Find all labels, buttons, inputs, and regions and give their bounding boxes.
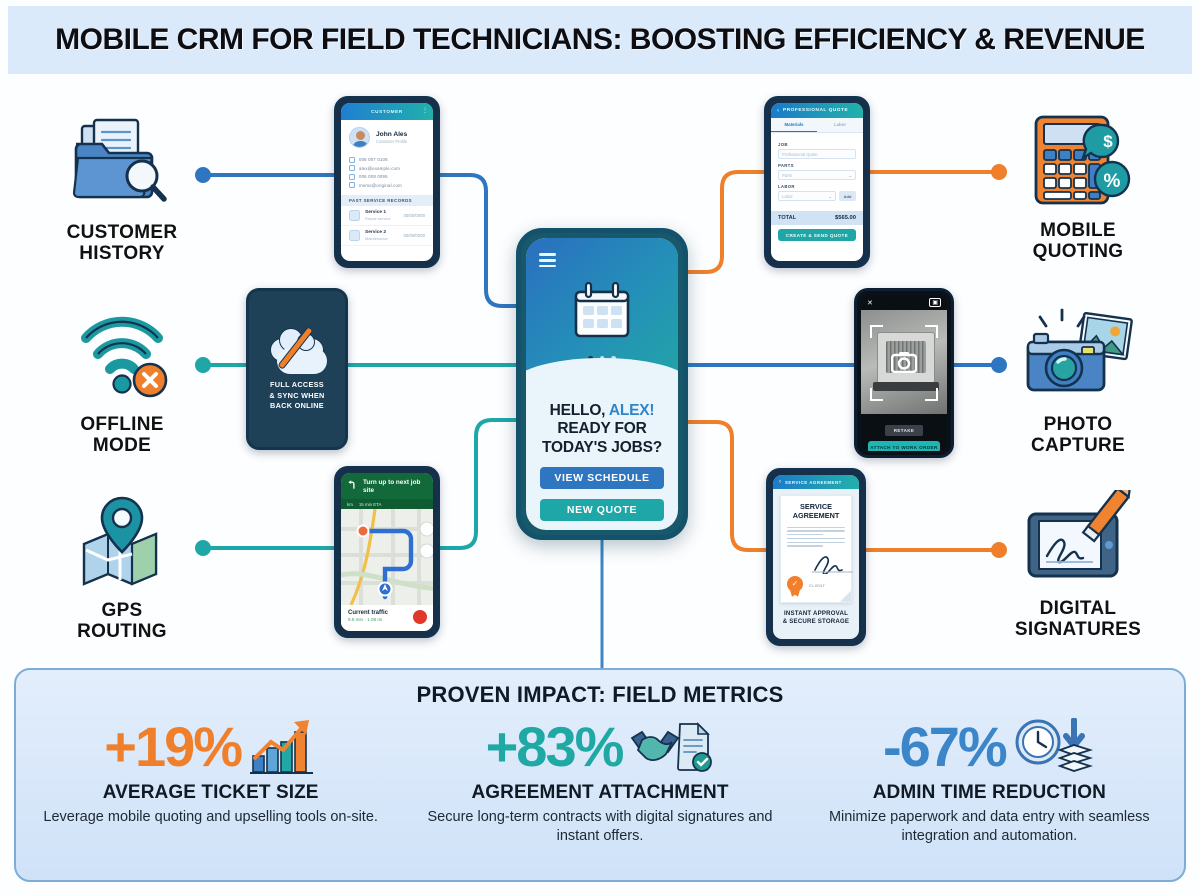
customer-profile: John Ales Customer Profile <box>341 120 433 152</box>
doc-title: SERVICE AGREEMENT <box>787 503 845 521</box>
approval-seal-icon: ✓ <box>787 576 803 592</box>
navigation-footer: Current traffic 9.5 min · 1.08 mi <box>341 605 433 627</box>
list-item: memo@original.com <box>349 182 425 188</box>
recenter-icon[interactable] <box>413 610 427 624</box>
add-line-button[interactable]: Add <box>839 191 856 201</box>
tab-materials[interactable]: Materials <box>771 118 817 132</box>
appbar-title: SERVICE AGREEMENT <box>785 480 842 485</box>
labor-select[interactable]: Labor ⌄ <box>778 191 836 201</box>
cloud-offline-icon <box>266 326 328 370</box>
phone-professional-quote[interactable]: ‹ PROFESSIONAL QUOTE Materials Labor JOB… <box>764 96 870 268</box>
camera-topbar: ✕ ▣ <box>861 295 947 310</box>
infographic-canvas: MOBILE CRM FOR FIELD TECHNICIANS: BOOSTI… <box>0 0 1200 896</box>
metrics-title: PROVEN IMPACT: FIELD METRICS <box>16 682 1184 708</box>
parts-select[interactable]: Parts ⌄ <box>778 170 856 180</box>
metric-label: AGREEMENT ATTACHMENT <box>415 782 784 804</box>
view-schedule-button[interactable]: VIEW SCHEDULE <box>540 467 664 489</box>
total-label: TOTAL <box>778 215 796 221</box>
feature-label: OFFLINE MODE <box>22 414 222 457</box>
camera-icon <box>891 351 917 373</box>
job-input[interactable]: Professional Quote <box>778 149 856 159</box>
hamburger-menu-icon[interactable] <box>539 250 556 271</box>
feature-label: GPS ROUTING <box>22 600 222 643</box>
greeting-heading: HELLO, ALEX! READY FOR TODAY'S JOBS? <box>540 402 664 457</box>
feature-label: CUSTOMER HISTORY <box>22 222 222 265</box>
phone-gps-navigation[interactable]: Turn up to next job site km 15 min ETA <box>334 466 440 638</box>
metric-value: +19% <box>104 719 241 775</box>
field-label-labor: LABOR <box>778 184 856 189</box>
metric-value: -67% <box>883 719 1006 775</box>
calendar-icon <box>569 282 635 342</box>
table-row[interactable]: Service 1 Repair service 00/00/0000 <box>341 206 433 226</box>
section-header: PAST SERVICE RECORDS <box>341 195 433 206</box>
quote-tabs[interactable]: Materials Labor <box>771 118 863 133</box>
metrics-panel: PROVEN IMPACT: FIELD METRICS +19% <box>14 668 1186 882</box>
hero-header <box>526 238 678 386</box>
list-item: 008 007 0108 <box>349 157 425 163</box>
agreement-footer: INSTANT APPROVAL & SECURE STORAGE <box>773 610 859 627</box>
attach-to-work-order-button[interactable]: ATTACH TO WORK ORDER <box>868 441 940 451</box>
map-canvas[interactable] <box>341 509 433 605</box>
retake-button[interactable]: RETAKE <box>885 425 924 436</box>
mail-icon <box>349 165 355 171</box>
chevron-left-icon[interactable]: ‹ <box>777 108 779 114</box>
create-send-quote-button[interactable]: CREATE & SEND QUOTE <box>778 229 856 241</box>
feature-digital-signatures[interactable]: DIGITAL SIGNATURES <box>978 484 1178 641</box>
direction-text: Turn up to next job site <box>363 479 427 495</box>
carousel-dots[interactable] <box>588 356 616 361</box>
page-fold <box>840 591 851 602</box>
camera-viewfinder[interactable] <box>861 310 947 414</box>
phone-customer-history[interactable]: CUSTOMER ⋮ John Ales Customer Profile 00… <box>334 96 440 268</box>
feature-gps-routing[interactable]: GPS ROUTING <box>22 486 222 643</box>
folder-search-icon <box>22 108 222 216</box>
metric-label: AVERAGE TICKET SIZE <box>26 782 395 804</box>
avatar <box>349 127 370 148</box>
metric-average-ticket-size: +19% <box>16 714 405 846</box>
metric-desc: Leverage mobile quoting and upselling to… <box>26 808 395 827</box>
feature-label: DIGITAL SIGNATURES <box>978 598 1178 641</box>
card-offline-sync[interactable]: FULL ACCESS & SYNC WHEN BACK ONLINE <box>246 288 348 450</box>
feature-label: PHOTO CAPTURE <box>978 414 1178 457</box>
clock-paper-down-icon <box>1012 718 1096 776</box>
customer-appbar: CUSTOMER ⋮ <box>341 103 433 120</box>
close-icon[interactable]: ✕ <box>867 299 873 307</box>
feature-label: MOBILE QUOTING <box>978 220 1178 263</box>
metric-agreement-attachment: +83% <box>405 714 794 846</box>
field-label-job: JOB <box>778 142 856 147</box>
signature-area: ✓ CLIENT <box>787 554 845 592</box>
service-icon <box>349 230 360 241</box>
address-icon <box>349 182 355 188</box>
agreement-appbar: ‹ SERVICE AGREEMENT <box>773 475 859 489</box>
camera-photos-icon <box>978 300 1178 408</box>
feature-photo-capture[interactable]: PHOTO CAPTURE <box>978 300 1178 457</box>
focus-frame-icon <box>870 325 883 338</box>
phone-hero-dashboard[interactable]: HELLO, ALEX! READY FOR TODAY'S JOBS? VIE… <box>516 228 688 540</box>
signature-tablet-icon <box>978 484 1178 592</box>
wifi-off-icon <box>22 300 222 408</box>
turn-left-arrow-icon <box>347 479 358 490</box>
list-item: alex@example.com <box>349 165 425 171</box>
chevron-left-icon[interactable]: ‹ <box>779 479 781 485</box>
phone-photo-capture[interactable]: ✕ ▣ RETAKE ATTA <box>854 288 954 458</box>
map-pin-icon <box>22 486 222 594</box>
offline-card-text: FULL ACCESS & SYNC WHEN BACK ONLINE <box>269 380 324 412</box>
signature-icon: CLIENT <box>809 554 855 592</box>
customer-subtitle: Customer Profile <box>376 139 407 144</box>
metric-desc: Minimize paperwork and data entry with s… <box>805 808 1174 846</box>
metric-value: +83% <box>486 719 623 775</box>
feature-offline-mode[interactable]: OFFLINE MODE <box>22 300 222 457</box>
table-row[interactable]: Service 2 Maintenance 00/00/0000 <box>341 226 433 246</box>
total-value: $565.00 <box>835 215 856 221</box>
phone-service-agreement[interactable]: ‹ SERVICE AGREEMENT SERVICE AGREEMENT ✓ <box>766 468 866 646</box>
metric-label: ADMIN TIME REDUCTION <box>805 782 1174 804</box>
svg-text:%: % <box>1104 171 1121 192</box>
appbar-title: PROFESSIONAL QUOTE <box>783 108 848 113</box>
navigation-banner: Turn up to next job site <box>341 473 433 499</box>
contact-list: 008 007 0108 alex@example.com 006 008 00… <box>341 152 433 195</box>
feature-mobile-quoting[interactable]: $ $ <box>978 106 1178 263</box>
new-quote-button[interactable]: NEW QUOTE <box>540 499 664 521</box>
kebab-menu-icon[interactable]: ⋮ <box>422 110 428 114</box>
list-item: 006 008 0095 <box>349 174 425 180</box>
customer-name: John Ales <box>376 131 407 138</box>
growth-chart-icon <box>247 718 317 776</box>
quote-total-row: TOTAL $565.00 <box>771 211 863 225</box>
doc-text-lines <box>787 527 845 547</box>
svg-text:$: $ <box>1103 132 1113 151</box>
feature-customer-history[interactable]: CUSTOMER HISTORY <box>22 108 222 265</box>
camera-switch-icon[interactable]: ▣ <box>929 298 941 307</box>
agreement-document: SERVICE AGREEMENT ✓ CLIENT <box>780 495 852 603</box>
phone-icon <box>349 174 355 180</box>
field-label-parts: PARTS <box>778 163 856 168</box>
handshake-document-icon <box>628 718 714 776</box>
tab-labor[interactable]: Labor <box>817 118 863 132</box>
id-icon <box>349 157 355 163</box>
service-icon <box>349 210 360 221</box>
quote-appbar: ‹ PROFESSIONAL QUOTE <box>771 103 863 118</box>
calculator-icon: $ $ <box>978 106 1178 214</box>
chevron-down-icon: ⌄ <box>829 194 832 199</box>
metric-admin-time-reduction: -67% <box>795 714 1184 846</box>
appbar-title: CUSTOMER <box>371 109 403 114</box>
navigation-subbar: km 15 min ETA <box>341 499 433 509</box>
chevron-down-icon: ⌄ <box>849 173 852 178</box>
metric-desc: Secure long-term contracts with digital … <box>415 808 784 846</box>
